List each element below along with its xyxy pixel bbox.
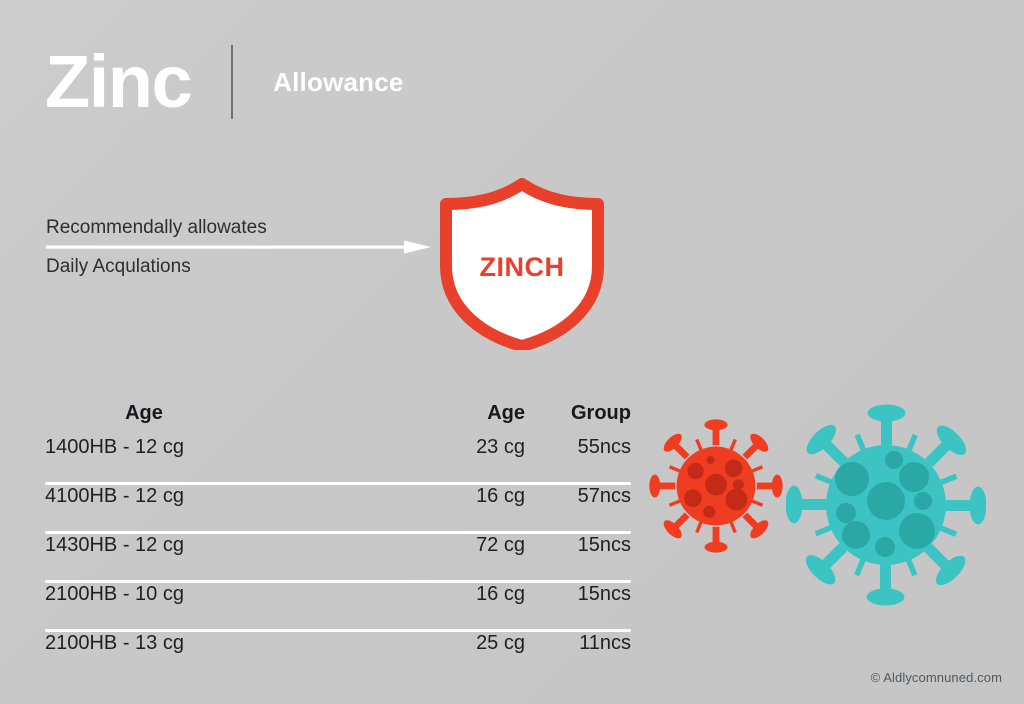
page-subtitle: Allowance (273, 67, 403, 98)
cell-group-value: 15ncs (525, 534, 631, 557)
shield-badge: ZINCH (440, 178, 604, 350)
cell-group-value: 15ncs (525, 583, 631, 606)
cell-age-value: 23 cg (375, 436, 525, 459)
virus-illustration-large (786, 398, 986, 612)
table-header-row: Age Age Group (45, 402, 631, 436)
cell-age-value: 16 cg (375, 485, 525, 508)
column-header-1: Age (45, 402, 375, 425)
virus-icon-teal (786, 398, 986, 612)
footer-copyright: © Aldlycomnuned.com (871, 670, 1002, 685)
intro-text-block: Recommendally allowates Daily Acqulation… (46, 216, 431, 280)
cell-age-label: 1400HB - 12 cg (45, 436, 375, 459)
cell-age-value: 16 cg (375, 583, 525, 606)
column-header-3: Group (525, 402, 631, 425)
cell-age-label: 1430HB - 12 cg (45, 534, 375, 557)
cell-group-value: 57ncs (525, 485, 631, 508)
shield-label: ZINCH (440, 178, 604, 350)
table-row: 1430HB - 12 cg 72 cg 15ncs (45, 534, 631, 580)
cell-age-value: 72 cg (375, 534, 525, 557)
header: Zinc Allowance (45, 36, 404, 128)
table-row: 1400HB - 12 cg 23 cg 55ncs (45, 436, 631, 482)
infographic-canvas: Zinc Allowance Recommendally allowates D… (0, 0, 1024, 704)
cell-age-label: 2100HB - 13 cg (45, 632, 375, 655)
cell-group-value: 11ncs (525, 632, 631, 655)
table-row: 4100HB - 12 cg 16 cg 57ncs (45, 485, 631, 531)
table-row: 2100HB - 10 cg 16 cg 15ncs (45, 583, 631, 629)
cell-age-value: 25 cg (375, 632, 525, 655)
column-header-2: Age (375, 402, 525, 425)
table-row: 2100HB - 13 cg 25 cg 11ncs (45, 632, 631, 678)
cell-age-label: 4100HB - 12 cg (45, 485, 375, 508)
cell-group-value: 55ncs (525, 436, 631, 459)
data-table: Age Age Group 1400HB - 12 cg 23 cg 55ncs… (45, 402, 631, 678)
header-divider (231, 45, 233, 119)
intro-line-primary: Recommendally allowates (46, 216, 431, 240)
page-title: Zinc (45, 45, 191, 119)
intro-line-secondary: Daily Acqulations (46, 255, 431, 279)
virus-icon-red (648, 418, 784, 554)
virus-illustration-small (648, 418, 784, 554)
cell-age-label: 2100HB - 10 cg (45, 583, 375, 606)
